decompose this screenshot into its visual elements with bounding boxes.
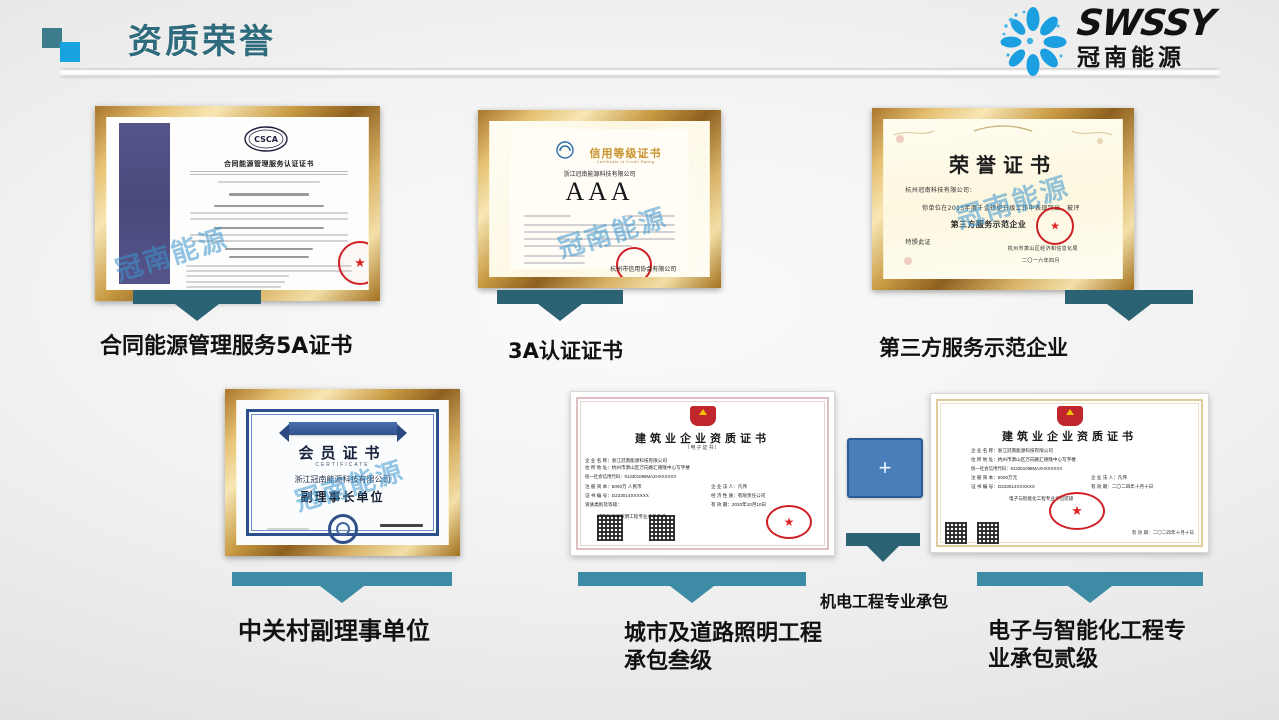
certificate-red-seal: ★ [1036,207,1074,245]
certificate-paper: 信用等级证书 Certificate of Credit Rating 浙江冠南… [510,129,689,269]
certificate-title: 合同能源管理服务认证证书 [186,159,352,169]
certificate-issuer: 杭州市信用协会有限公司 [610,264,676,273]
certificate-mat: 荣誉证书 杭州冠南科技有限公司： 你单位在2015年度千企转型升级工作中表现突出… [884,119,1122,279]
certificate-mat: 信用等级证书 Certificate of Credit Rating 浙江冠南… [490,121,709,277]
caption-construction-electronics: 电子与智能化工程专业承包贰级 [988,618,1203,673]
certificate-paper: CSCA 合同能源管理服务认证证书 [170,117,368,290]
plus-icon: + [849,440,921,496]
certificate-company: 浙江冠南能源科技有限公司 [237,474,448,485]
page-title: 资质荣誉 [128,20,276,64]
certificate-field-8: 经 济 性 质：有限责任公司 [711,493,765,499]
svg-text:CSCA: CSCA [254,135,279,144]
brand-name-cn: 冠南能源 [1077,44,1267,72]
certificate-field-3: 统一社会信用代码：913301098MA2HXXXXXX [585,474,745,480]
certificate-role: 副理事长单位 [237,488,448,505]
qr-code-icon [977,522,999,544]
certificate-field-4: 注 册 资 本：5000万元 [971,475,1017,481]
certificate-date: 二〇一六年四月 [1022,257,1060,264]
certificate-company: 杭州冠南科技有限公司： [905,185,975,194]
certificate-field-1: 企 业 名 称：浙江冠南能源科技有限公司 [971,448,1053,454]
callout-arrow-construction-electronics [977,572,1203,603]
caption-credit-rating-aaa: 3A认证证书 [508,338,623,364]
caption-mechanical-electrical: 机电工程专业承包 [820,592,948,612]
header-square-dark-icon [42,28,62,48]
certificate-mat: 会员证书 CERTIFICATE 浙江冠南能源科技有限公司 副理事长单位 冠南能… [237,400,448,545]
qr-code-icon [649,515,675,541]
qr-code-icon [597,515,623,541]
certificate-issuer: 杭州市萧山区经济和信息化局 [1008,245,1078,252]
certificate-field-2: 住 所 地 址：杭州市萧山区万向路汇德隆中心写字楼 [971,457,1141,463]
certificate-image-member-zhongguancun[interactable]: 会员证书 CERTIFICATE 浙江冠南能源科技有限公司 副理事长单位 冠南能… [225,389,460,556]
certificate-field-4: 注 册 资 本：5000万 人民币 [585,484,642,490]
floral-ornament-icon [884,119,1122,279]
caption-construction-lighting: 城市及道路照明工程承包叁级 [624,620,839,675]
certificate-field-1: 企 业 名 称：浙江冠南能源科技有限公司 [585,456,705,465]
national-emblem-icon [690,406,716,426]
csca-emblem-icon: CSCA [244,126,288,152]
callout-arrow-mechanical-electrical [846,533,920,562]
logo-wordmark: SWSSY 冠南能源 [1077,4,1267,78]
callout-arrow-third-party [1065,290,1193,321]
certificate-field-6: 资质类别及等级： [585,502,622,508]
certificate-red-seal: ★ [338,241,368,285]
certificate-note: 特颁此证 [905,237,931,246]
certificate-title-en: CERTIFICATE [237,462,448,468]
slide-header: 资质荣誉 [0,0,1279,88]
certificate-field-6: 企 业 法 人：凡伟 [1091,475,1127,481]
national-emblem-icon [1057,406,1083,426]
company-logo: SWSSY 冠南能源 [997,4,1267,78]
add-image-placeholder-button[interactable]: + [847,438,923,498]
certificate-medal-icon [328,514,358,544]
certificate-field-7: 企 业 法 人：凡伟 [711,484,747,490]
caption-third-party-demo-enterprise: 第三方服务示范企业 [879,335,1068,361]
certificate-image-honour-third-party[interactable]: 荣誉证书 杭州冠南科技有限公司： 你单位在2015年度千企转型升级工作中表现突出… [872,108,1134,290]
header-square-light-icon [60,42,80,62]
certificate-red-seal: ★ [766,505,812,539]
certificate-date: 有 效 期：二〇二四年十月十日 [1132,530,1194,536]
certificate-side-band [119,123,170,284]
qr-code-icon [945,522,967,544]
certificate-title: 建筑业企业资质证书 [931,428,1208,444]
slide-canvas: 资质荣誉 [0,0,1279,720]
callout-arrow-construction-lighting [578,572,806,603]
caption-energy-management-5a: 合同能源管理服务5A证书 [100,333,352,361]
certificate-title: 会员证书 [237,442,448,463]
certificate-field-5: 证 书 编 号：D233014XXXXXX [585,493,649,499]
certificate-field-7: 有 效 期：二〇二四年十月十日 [1091,484,1153,490]
callout-arrow-credit-rating [497,290,623,321]
callout-arrow-member-zhongguancun [232,572,452,603]
certificate-mat: CSCA 合同能源管理服务认证证书 [107,117,368,290]
certificate-field-2: 住 所 地 址：杭州市萧山区万向路汇德隆中心写字楼 [585,465,735,471]
certificate-subtitle: （电子证书） [571,444,834,451]
caption-member-zhongguancun: 中关村副理事单位 [238,616,430,646]
certificate-field-3: 统一社会信用代码：913301098MA2HXXXXXX [971,466,1062,472]
credit-rating-value: AAA [510,177,689,207]
brand-name-en: SWSSY [1075,4,1269,44]
certificate-image-energy-management-5a[interactable]: CSCA 合同能源管理服务认证证书 [95,106,380,301]
certificate-image-construction-lighting[interactable]: 建筑业企业资质证书 （电子证书） 企 业 名 称：浙江冠南能源科技有限公司 住 … [570,391,835,556]
certificate-image-credit-rating-aaa[interactable]: 信用等级证书 Certificate of Credit Rating 浙江冠南… [478,110,721,288]
certificate-title-en: Certificate of Credit Rating [510,159,709,164]
certificate-field-9: 有 效 期：2020年10月10日 [711,502,766,508]
certificate-title: 荣誉证书 [884,149,1122,178]
certificate-award: 第三方服务示范企业 [951,219,1027,230]
swssy-droplet-burst-logo-icon [997,6,1069,76]
certificate-red-seal: ★ [1049,492,1105,530]
certificate-ribbon [289,422,397,435]
certificate-image-construction-electronics[interactable]: 建筑业企业资质证书 企 业 名 称：浙江冠南能源科技有限公司 住 所 地 址：杭… [930,393,1209,553]
callout-arrow-energy-management [133,290,261,321]
certificate-field-5: 证 书 编 号：D233014XXXXXX [971,484,1035,490]
